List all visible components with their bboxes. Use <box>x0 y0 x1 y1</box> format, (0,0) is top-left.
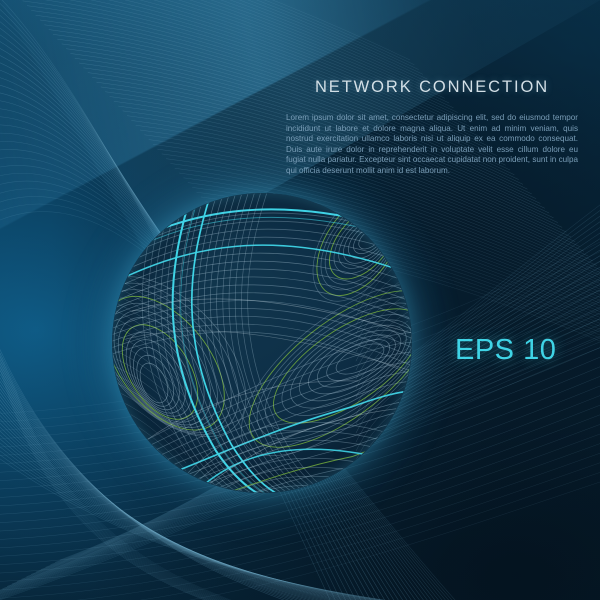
globe-sphere <box>112 193 412 493</box>
page-title: NETWORK CONNECTION <box>286 78 578 97</box>
eps-badge: EPS 10 <box>455 334 556 367</box>
text-block: NETWORK CONNECTION Lorem ipsum dolor sit… <box>286 78 578 177</box>
poster-canvas: NETWORK CONNECTION Lorem ipsum dolor sit… <box>0 0 600 600</box>
network-globe <box>112 193 412 493</box>
globe-contour-lines <box>112 193 412 493</box>
body-paragraph: Lorem ipsum dolor sit amet, consectetur … <box>286 113 578 177</box>
